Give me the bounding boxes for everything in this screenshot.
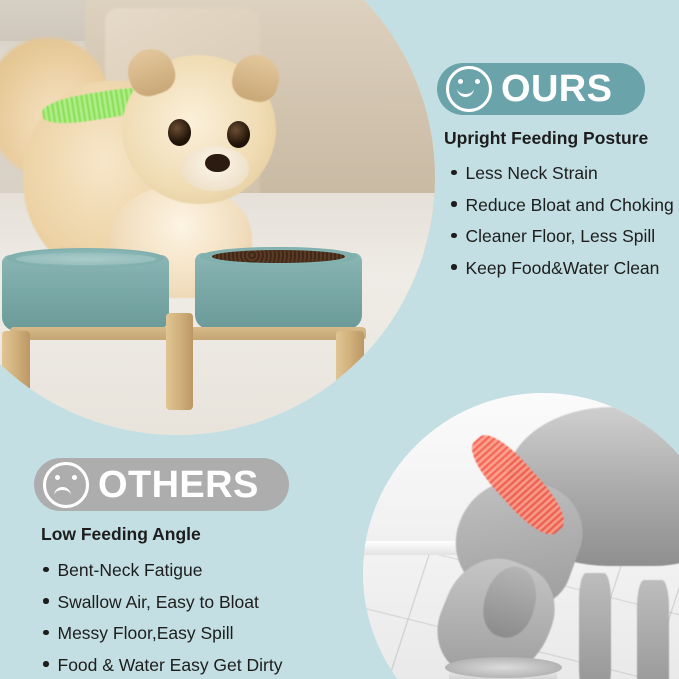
- ours-badge: OURS: [437, 63, 645, 115]
- bullet-dot-icon: [451, 170, 457, 176]
- list-item: Bent-Neck Fatigue: [43, 562, 334, 580]
- happy-face-eye-right: [475, 79, 480, 84]
- bullet-dot-icon: [451, 264, 457, 270]
- others-subtitle: Low Feeding Angle: [41, 524, 334, 545]
- bullet-dot-icon: [43, 598, 49, 604]
- ours-subtitle: Upright Feeding Posture: [444, 128, 672, 149]
- others-bullet-text: Messy Floor,Easy Spill: [58, 625, 234, 643]
- others-drawback-list: Bent-Neck Fatigue Swallow Air, Easy to B…: [43, 562, 334, 674]
- water-bowl: [2, 255, 169, 331]
- dog-nose: [205, 154, 230, 173]
- sad-face-eye-left: [55, 475, 60, 480]
- others-bullet-text: Food & Water Easy Get Dirty: [58, 657, 283, 675]
- stand-leg-right: [336, 331, 364, 410]
- bullet-dot-icon: [43, 630, 49, 636]
- list-item: Less Neck Strain: [451, 165, 672, 183]
- stand-leg-left: [2, 331, 30, 410]
- others-section: OTHERS Low Feeding Angle Bent-Neck Fatig…: [34, 458, 334, 679]
- photo-others-floor-bowl: [363, 393, 679, 679]
- others-badge-label: OTHERS: [98, 466, 259, 504]
- ours-badge-label: OURS: [501, 70, 612, 108]
- bullet-dot-icon: [451, 233, 457, 239]
- sad-face-mouth: [54, 487, 71, 498]
- large-dog-leg-rear: [637, 580, 669, 679]
- list-item: Cleaner Floor, Less Spill: [451, 228, 672, 246]
- ours-bullet-text: Less Neck Strain: [466, 165, 598, 183]
- photo-top-scene: [0, 0, 435, 435]
- sad-face-icon: [43, 462, 89, 508]
- others-bullet-text: Swallow Air, Easy to Bloat: [58, 594, 259, 612]
- others-bullet-text: Bent-Neck Fatigue: [58, 562, 203, 580]
- ours-bullet-text: Reduce Bloat and Choking: [466, 197, 674, 215]
- happy-face-icon: [446, 66, 492, 112]
- stand-leg-center: [166, 313, 194, 410]
- food-bowl: [195, 253, 362, 329]
- list-item: Reduce Bloat and Choking: [451, 197, 672, 215]
- dog-eye-left: [168, 119, 191, 146]
- ours-section: OURS Upright Feeding Posture Less Neck S…: [437, 63, 672, 291]
- bowl-kibble: [212, 250, 345, 263]
- elevated-bamboo-stand: [2, 244, 373, 424]
- list-item: Swallow Air, Easy to Bloat: [43, 594, 334, 612]
- large-dog-leg-front: [579, 573, 611, 679]
- ours-bullet-text: Keep Food&Water Clean: [466, 260, 660, 278]
- ours-bullet-text: Cleaner Floor, Less Spill: [466, 228, 656, 246]
- list-item: Food & Water Easy Get Dirty: [43, 657, 334, 675]
- bullet-dot-icon: [451, 201, 457, 207]
- bowl-water: [16, 253, 156, 265]
- ours-benefit-list: Less Neck Strain Reduce Bloat and Chokin…: [451, 165, 672, 277]
- sad-face-eye-right: [72, 475, 77, 480]
- happy-face-eye-left: [458, 79, 463, 84]
- infographic-canvas: OURS Upright Feeding Posture Less Neck S…: [0, 0, 679, 679]
- list-item: Keep Food&Water Clean: [451, 260, 672, 278]
- photo-ours-elevated-feeder: [0, 0, 435, 435]
- stainless-floor-bowl: [449, 667, 557, 679]
- others-badge: OTHERS: [34, 458, 289, 511]
- bullet-dot-icon: [43, 567, 49, 573]
- happy-face-mouth: [457, 86, 474, 97]
- bullet-dot-icon: [43, 661, 49, 667]
- list-item: Messy Floor,Easy Spill: [43, 625, 334, 643]
